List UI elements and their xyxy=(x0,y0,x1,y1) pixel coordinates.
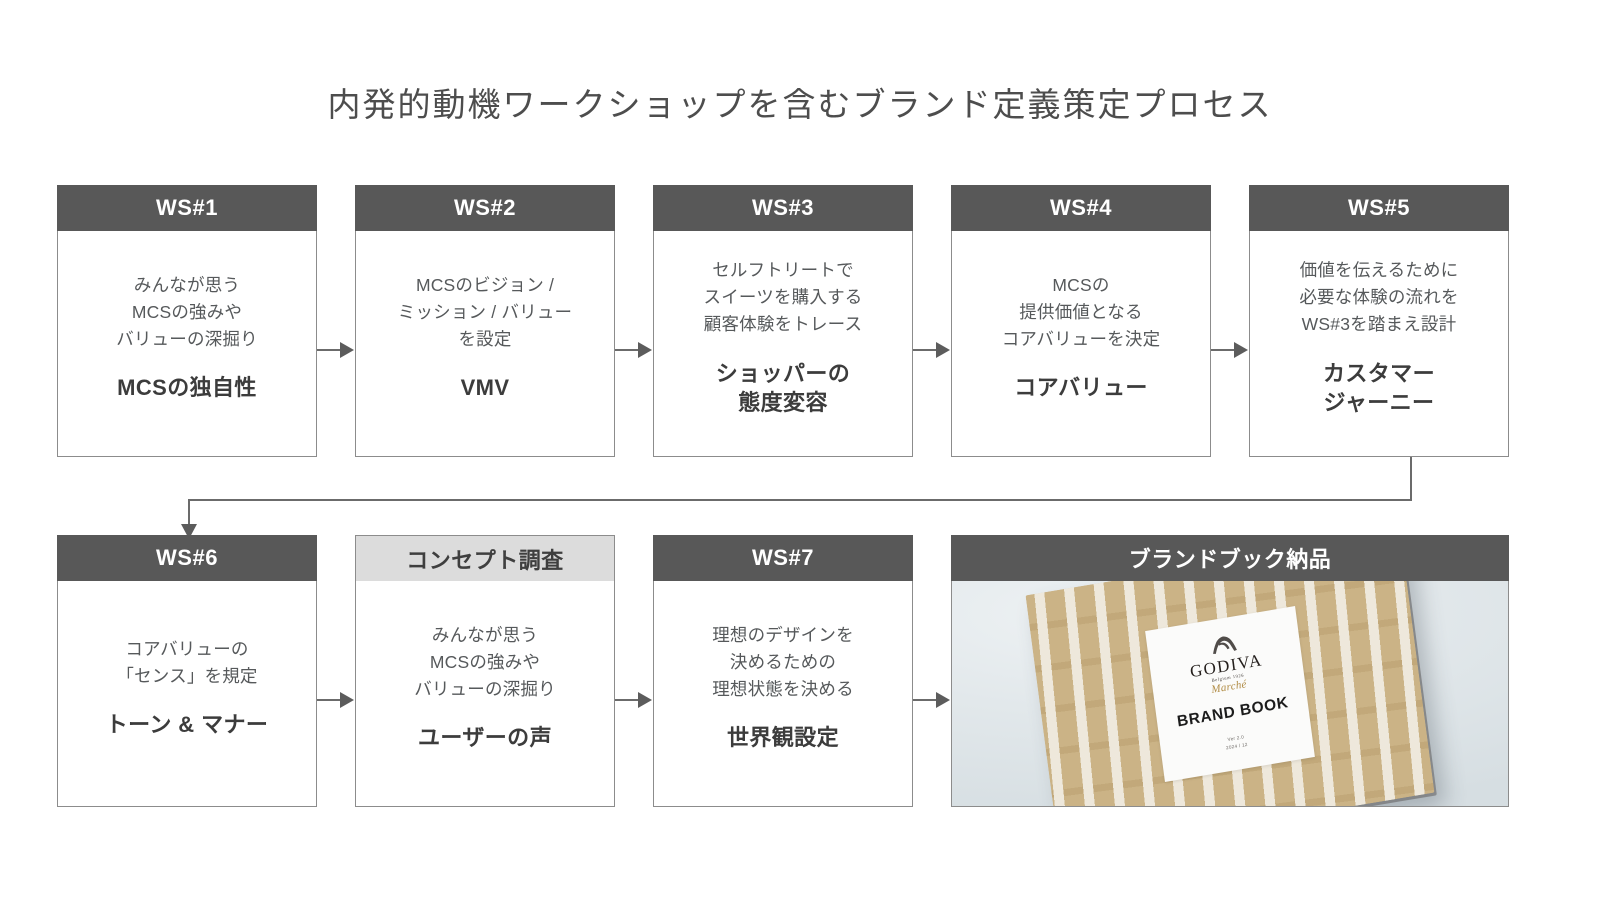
arrow-ws7-brandbook xyxy=(936,692,950,708)
card-body-ws7: 理想のデザインを 決めるための 理想状態を決める 世界観設定 xyxy=(654,581,912,806)
process-card-concept-research[interactable]: コンセプト調査 みんなが思う MCSの強みや バリューの深掘り ユーザーの声 xyxy=(355,535,615,807)
process-card-ws4[interactable]: WS#4 MCSの 提供価値となる コアバリューを決定 コアバリュー xyxy=(951,185,1211,457)
card-description: 理想のデザインを 決めるための 理想状態を決める xyxy=(712,622,854,703)
card-keyword: ユーザーの声 xyxy=(418,723,552,753)
brandbook-photo: GODIVA Belgium 1926 Marché BRAND BOOK Ve… xyxy=(952,581,1508,806)
arrow-concept-ws7 xyxy=(638,692,652,708)
card-header-ws7: WS#7 xyxy=(653,535,913,581)
card-body-ws2: MCSのビジョン / ミッション / バリュー を設定 VMV xyxy=(356,231,614,456)
connector-wrap-across xyxy=(188,499,1412,501)
arrow-ws6-concept xyxy=(340,692,354,708)
process-card-brandbook-delivery[interactable]: ブランドブック納品 GODIVA Belgium 1926 Marché BRA… xyxy=(951,535,1509,807)
process-card-ws7[interactable]: WS#7 理想のデザインを 決めるための 理想状態を決める 世界観設定 xyxy=(653,535,913,807)
card-description: MCSの 提供価値となる コアバリューを決定 xyxy=(1002,272,1161,353)
card-body-ws1: みんなが思う MCSの強みや バリューの深掘り MCSの独自性 xyxy=(58,231,316,456)
card-header-ws2: WS#2 xyxy=(355,185,615,231)
connector-wrap-down-to-ws6 xyxy=(188,499,190,526)
card-keyword: MCSの独自性 xyxy=(117,373,257,403)
card-keyword: トーン & マナー xyxy=(106,710,269,740)
card-description: みんなが思う MCSの強みや バリューの深掘り xyxy=(414,622,556,703)
process-flow-diagram: WS#1 みんなが思う MCSの強みや バリューの深掘り MCSの独自性 WS#… xyxy=(0,0,1600,900)
connector-wrap-down-from-ws5 xyxy=(1410,457,1412,500)
process-card-ws5[interactable]: WS#5 価値を伝えるために 必要な体験の流れを WS#3を踏まえ設計 カスタマ… xyxy=(1249,185,1509,457)
card-header-ws1: WS#1 xyxy=(57,185,317,231)
card-keyword: カスタマー ジャーニー xyxy=(1323,359,1435,418)
brandbook-cover: GODIVA Belgium 1926 Marché BRAND BOOK Ve… xyxy=(1025,581,1434,806)
arrow-ws3-ws4 xyxy=(936,342,950,358)
connector-ws3-ws4 xyxy=(913,349,937,351)
card-description: セルフトリートで スイーツを購入する 顧客体験をトレース xyxy=(704,257,863,338)
card-body-brandbook-delivery: GODIVA Belgium 1926 Marché BRAND BOOK Ve… xyxy=(952,581,1508,806)
card-header-concept-research: コンセプト調査 xyxy=(355,535,615,581)
connector-ws4-ws5 xyxy=(1211,349,1235,351)
arrow-ws4-ws5 xyxy=(1234,342,1248,358)
card-body-concept-research: みんなが思う MCSの強みや バリューの深掘り ユーザーの声 xyxy=(356,581,614,806)
process-card-ws1[interactable]: WS#1 みんなが思う MCSの強みや バリューの深掘り MCSの独自性 xyxy=(57,185,317,457)
card-description: 価値を伝えるために 必要な体験の流れを WS#3を踏まえ設計 xyxy=(1299,257,1458,338)
brandbook-version: Ver 2.02024 / 12 xyxy=(1225,732,1249,751)
card-keyword: 世界観設定 xyxy=(727,723,839,753)
brandbook-version-number: Ver 2.0 xyxy=(1227,734,1244,742)
card-body-ws4: MCSの 提供価値となる コアバリューを決定 コアバリュー xyxy=(952,231,1210,456)
connector-concept-ws7 xyxy=(615,699,639,701)
process-card-ws6[interactable]: WS#6 コアバリューの 「センス」を規定 トーン & マナー xyxy=(57,535,317,807)
card-header-ws6: WS#6 xyxy=(57,535,317,581)
card-header-ws5: WS#5 xyxy=(1249,185,1509,231)
process-card-ws2[interactable]: WS#2 MCSのビジョン / ミッション / バリュー を設定 VMV xyxy=(355,185,615,457)
brandbook-date: 2024 / 12 xyxy=(1226,741,1248,750)
card-description: コアバリューの 「センス」を規定 xyxy=(116,636,257,690)
brandbook-title: BRAND BOOK xyxy=(1176,694,1290,731)
card-header-ws4: WS#4 xyxy=(951,185,1211,231)
card-body-ws5: 価値を伝えるために 必要な体験の流れを WS#3を踏まえ設計 カスタマー ジャー… xyxy=(1250,231,1508,456)
brandbook-label: GODIVA Belgium 1926 Marché BRAND BOOK Ve… xyxy=(1145,606,1315,782)
connector-ws7-brandbook xyxy=(913,699,937,701)
connector-ws1-ws2 xyxy=(317,349,341,351)
arrow-ws1-ws2 xyxy=(340,342,354,358)
card-body-ws6: コアバリューの 「センス」を規定 トーン & マナー xyxy=(58,581,316,806)
card-body-ws3: セルフトリートで スイーツを購入する 顧客体験をトレース ショッパーの 態度変容 xyxy=(654,231,912,456)
card-header-ws3: WS#3 xyxy=(653,185,913,231)
card-keyword: コアバリュー xyxy=(1014,373,1148,403)
process-card-ws3[interactable]: WS#3 セルフトリートで スイーツを購入する 顧客体験をトレース ショッパーの… xyxy=(653,185,913,457)
card-keyword: ショッパーの 態度変容 xyxy=(716,359,850,418)
card-description: MCSのビジョン / ミッション / バリュー を設定 xyxy=(398,272,573,353)
card-keyword: VMV xyxy=(461,373,510,403)
card-header-brandbook-delivery: ブランドブック納品 xyxy=(951,535,1509,581)
arrow-ws2-ws3 xyxy=(638,342,652,358)
card-description: みんなが思う MCSの強みや バリューの深掘り xyxy=(116,272,258,353)
connector-ws2-ws3 xyxy=(615,349,639,351)
connector-ws6-concept xyxy=(317,699,341,701)
